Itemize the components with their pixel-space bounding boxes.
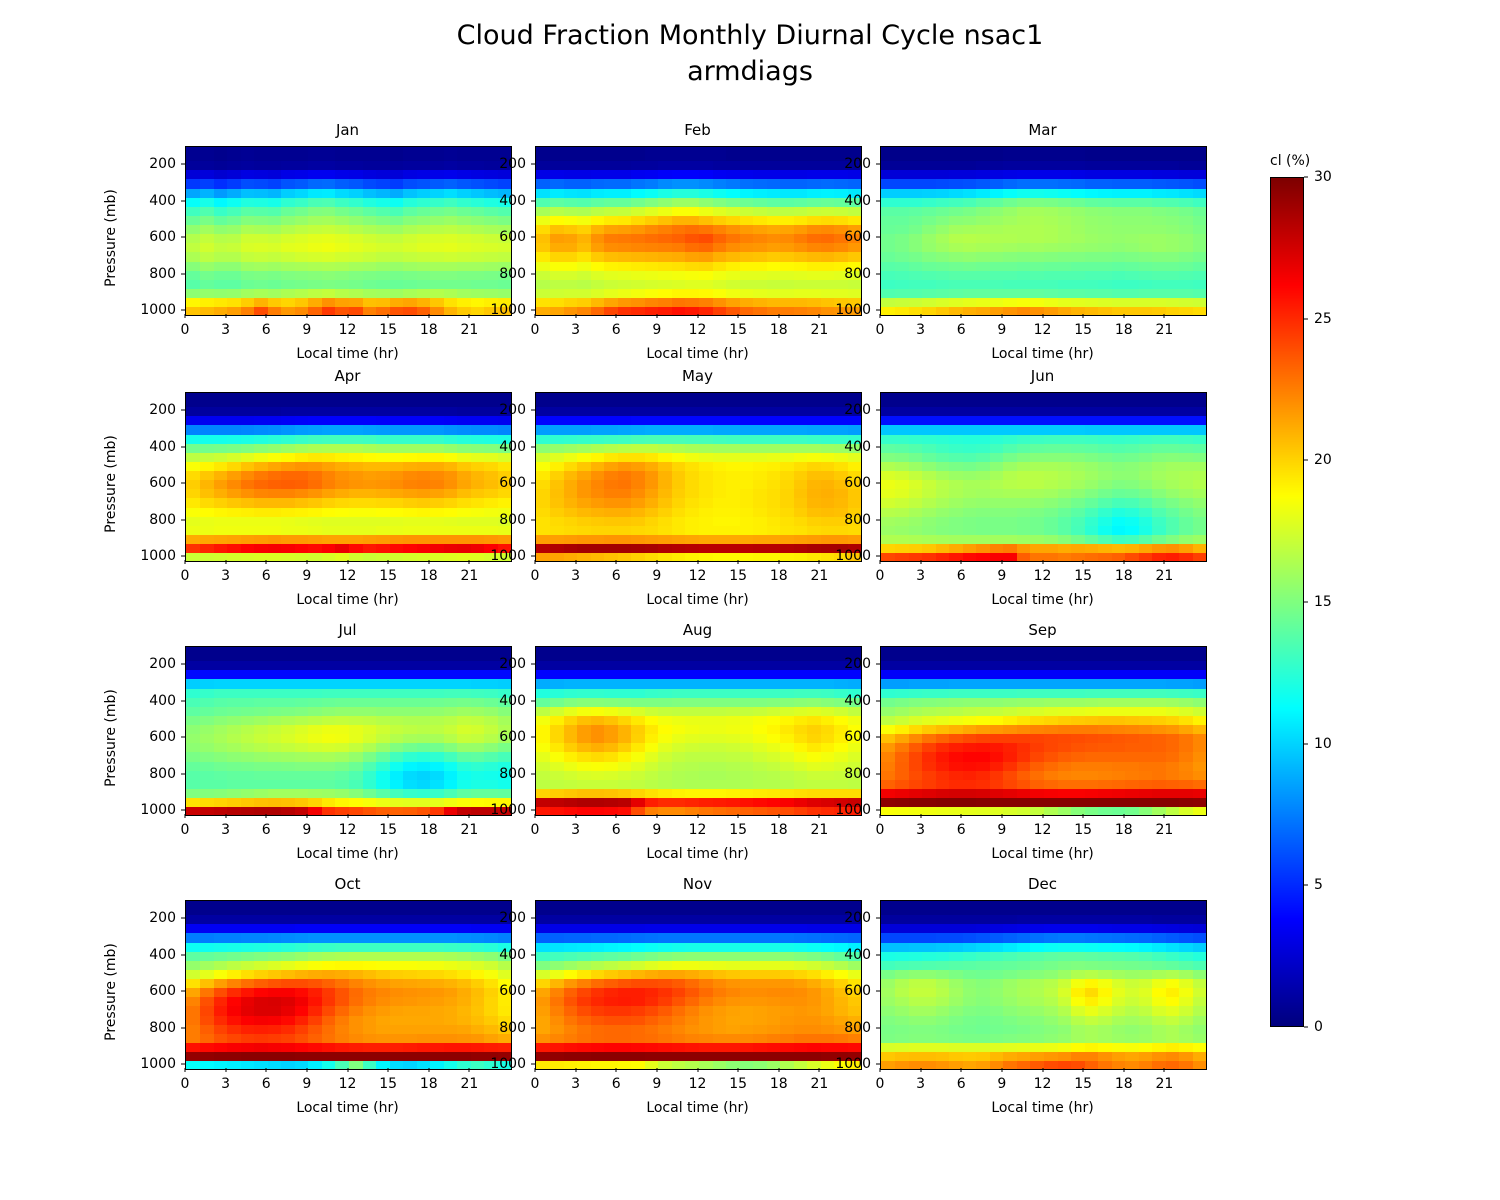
- y-tick-mark: [531, 410, 535, 411]
- heatmap-image: [186, 393, 511, 561]
- x-tick-mark: [1123, 1068, 1124, 1072]
- x-tick-mark: [306, 814, 307, 818]
- x-tick-label: 6: [612, 822, 621, 838]
- colorbar-tick-mark: [1304, 885, 1308, 886]
- heatmap-plot-area[interactable]: [535, 392, 862, 562]
- colorbar-tick-mark: [1304, 743, 1308, 744]
- subplot-title: Jul: [185, 621, 510, 639]
- x-tick-label: 12: [689, 568, 707, 584]
- y-tick-label: 200: [499, 402, 526, 418]
- y-tick-label: 400: [844, 947, 871, 963]
- x-tick-label: 15: [379, 322, 397, 338]
- x-tick-label: 6: [612, 1076, 621, 1092]
- x-tick-label: 9: [997, 322, 1006, 338]
- subplot-mar: Mar2004006008001000036912151821Local tim…: [880, 146, 1205, 314]
- x-tick-label: 21: [810, 568, 828, 584]
- x-tick-mark: [1164, 1068, 1165, 1072]
- x-tick-label: 12: [689, 822, 707, 838]
- y-tick-label: 600: [149, 229, 176, 245]
- x-tick-label: 15: [379, 1076, 397, 1092]
- subplot-may: May2004006008001000036912151821Local tim…: [535, 392, 860, 560]
- x-tick-label: 15: [729, 568, 747, 584]
- x-tick-mark: [306, 560, 307, 564]
- y-tick-mark: [181, 773, 185, 774]
- x-tick-mark: [388, 814, 389, 818]
- y-tick-mark: [876, 310, 880, 311]
- x-tick-mark: [1001, 814, 1002, 818]
- x-tick-mark: [388, 1068, 389, 1072]
- heatmap-plot-area[interactable]: [880, 900, 1207, 1070]
- heatmap-image: [881, 647, 1206, 815]
- x-tick-mark: [428, 314, 429, 318]
- y-tick-mark: [876, 556, 880, 557]
- x-tick-mark: [388, 560, 389, 564]
- x-tick-label: 15: [1074, 1076, 1092, 1092]
- y-tick-mark: [531, 810, 535, 811]
- x-tick-mark: [738, 814, 739, 818]
- x-tick-label: 21: [810, 322, 828, 338]
- subplot-title: Feb: [535, 121, 860, 139]
- x-tick-mark: [656, 1068, 657, 1072]
- x-tick-label: 18: [770, 568, 788, 584]
- y-tick-label: 600: [149, 475, 176, 491]
- x-tick-mark: [1042, 1068, 1043, 1072]
- x-axis-label: Local time (hr): [535, 1100, 860, 1116]
- y-tick-mark: [531, 200, 535, 201]
- y-tick-mark: [531, 991, 535, 992]
- y-tick-mark: [181, 1064, 185, 1065]
- x-tick-label: 12: [1034, 822, 1052, 838]
- heatmap-plot-area[interactable]: [185, 392, 512, 562]
- x-tick-label: 0: [181, 822, 190, 838]
- colorbar-tick-label: 25: [1314, 311, 1332, 327]
- heatmap-image: [881, 901, 1206, 1069]
- y-tick-label: 200: [844, 156, 871, 172]
- x-tick-label: 0: [531, 568, 540, 584]
- x-tick-label: 21: [1155, 568, 1173, 584]
- y-tick-label: 200: [499, 656, 526, 672]
- y-tick-mark: [876, 1027, 880, 1028]
- heatmap-image: [536, 901, 861, 1069]
- y-tick-label: 800: [844, 266, 871, 282]
- x-tick-label: 18: [770, 1076, 788, 1092]
- heatmap-plot-area[interactable]: [880, 392, 1207, 562]
- x-tick-mark: [1123, 314, 1124, 318]
- x-tick-mark: [738, 560, 739, 564]
- y-tick-label: 200: [149, 910, 176, 926]
- x-tick-label: 12: [339, 1076, 357, 1092]
- heatmap-plot-area[interactable]: [535, 900, 862, 1070]
- subplot-sep: Sep2004006008001000036912151821Local tim…: [880, 646, 1205, 814]
- x-tick-mark: [575, 314, 576, 318]
- x-tick-label: 3: [571, 568, 580, 584]
- heatmap-plot-area[interactable]: [185, 146, 512, 316]
- x-tick-label: 18: [420, 822, 438, 838]
- y-tick-label: 400: [844, 693, 871, 709]
- y-tick-label: 1000: [490, 548, 526, 564]
- y-tick-mark: [181, 446, 185, 447]
- y-axis-label: Pressure (mb): [103, 158, 119, 318]
- x-tick-mark: [656, 314, 657, 318]
- x-tick-label: 18: [770, 822, 788, 838]
- x-tick-label: 0: [181, 322, 190, 338]
- x-tick-mark: [225, 314, 226, 318]
- heatmap-image: [186, 147, 511, 315]
- x-tick-label: 0: [876, 822, 885, 838]
- x-tick-mark: [428, 814, 429, 818]
- colorbar-tick-mark: [1304, 177, 1308, 178]
- subplot-feb: Feb2004006008001000036912151821Local tim…: [535, 146, 860, 314]
- x-tick-label: 9: [652, 822, 661, 838]
- x-tick-mark: [185, 814, 186, 818]
- subplot-title: Sep: [880, 621, 1205, 639]
- x-tick-mark: [347, 814, 348, 818]
- colorbar-tick-label: 20: [1314, 452, 1332, 468]
- colorbar-tick-label: 10: [1314, 736, 1332, 752]
- x-tick-mark: [819, 560, 820, 564]
- x-tick-label: 0: [531, 822, 540, 838]
- x-tick-label: 6: [957, 322, 966, 338]
- x-tick-label: 6: [957, 822, 966, 838]
- y-tick-mark: [181, 273, 185, 274]
- x-tick-label: 9: [652, 568, 661, 584]
- y-tick-mark: [876, 664, 880, 665]
- heatmap-plot-area[interactable]: [880, 146, 1207, 316]
- x-tick-mark: [1042, 314, 1043, 318]
- x-tick-mark: [469, 814, 470, 818]
- x-tick-label: 9: [302, 568, 311, 584]
- x-tick-label: 9: [302, 322, 311, 338]
- x-tick-label: 12: [339, 322, 357, 338]
- subplot-title: Mar: [880, 121, 1205, 139]
- subplot-aug: Aug2004006008001000036912151821Local tim…: [535, 646, 860, 814]
- y-tick-label: 200: [844, 402, 871, 418]
- x-tick-mark: [575, 560, 576, 564]
- x-tick-mark: [306, 314, 307, 318]
- x-tick-label: 18: [1115, 568, 1133, 584]
- x-tick-mark: [1001, 560, 1002, 564]
- x-tick-label: 9: [652, 1076, 661, 1092]
- y-tick-label: 200: [499, 156, 526, 172]
- colorbar-tick-mark: [1304, 460, 1308, 461]
- heatmap-plot-area[interactable]: [880, 646, 1207, 816]
- y-tick-mark: [876, 200, 880, 201]
- y-tick-label: 1000: [490, 1056, 526, 1072]
- x-tick-mark: [656, 814, 657, 818]
- y-tick-label: 800: [149, 766, 176, 782]
- x-axis-label: Local time (hr): [185, 592, 510, 608]
- x-tick-mark: [697, 814, 698, 818]
- heatmap-plot-area[interactable]: [185, 646, 512, 816]
- y-tick-label: 200: [844, 910, 871, 926]
- y-tick-mark: [531, 700, 535, 701]
- x-axis-label: Local time (hr): [535, 592, 860, 608]
- x-tick-mark: [1001, 1068, 1002, 1072]
- y-tick-label: 1000: [490, 802, 526, 818]
- x-tick-label: 9: [302, 1076, 311, 1092]
- y-tick-label: 600: [844, 475, 871, 491]
- y-tick-label: 400: [499, 693, 526, 709]
- figure-canvas: Cloud Fraction Monthly Diurnal Cycle nsa…: [0, 0, 1500, 1200]
- x-axis-label: Local time (hr): [880, 346, 1205, 362]
- x-tick-label: 6: [262, 822, 271, 838]
- y-tick-label: 1000: [490, 302, 526, 318]
- y-axis-label: Pressure (mb): [103, 658, 119, 818]
- x-tick-mark: [388, 314, 389, 318]
- y-tick-label: 600: [499, 229, 526, 245]
- y-tick-mark: [876, 483, 880, 484]
- x-tick-label: 21: [460, 568, 478, 584]
- y-tick-mark: [876, 773, 880, 774]
- y-tick-mark: [181, 200, 185, 201]
- x-axis-label: Local time (hr): [535, 346, 860, 362]
- x-tick-mark: [778, 814, 779, 818]
- x-tick-label: 15: [1074, 822, 1092, 838]
- x-tick-mark: [535, 814, 536, 818]
- x-tick-label: 15: [729, 822, 747, 838]
- x-tick-mark: [880, 1068, 881, 1072]
- colorbar-tick-label: 0: [1314, 1019, 1323, 1035]
- x-tick-label: 0: [181, 1076, 190, 1092]
- x-tick-mark: [961, 560, 962, 564]
- y-tick-label: 800: [499, 266, 526, 282]
- x-tick-mark: [656, 560, 657, 564]
- y-tick-label: 600: [499, 475, 526, 491]
- y-tick-label: 1000: [835, 302, 871, 318]
- x-tick-mark: [428, 1068, 429, 1072]
- y-tick-mark: [181, 991, 185, 992]
- x-tick-mark: [1042, 560, 1043, 564]
- y-tick-label: 600: [844, 229, 871, 245]
- x-tick-mark: [575, 1068, 576, 1072]
- x-tick-mark: [697, 560, 698, 564]
- x-tick-label: 6: [262, 322, 271, 338]
- x-tick-label: 6: [612, 568, 621, 584]
- x-axis-label: Local time (hr): [535, 846, 860, 862]
- y-tick-label: 200: [149, 156, 176, 172]
- y-tick-mark: [876, 954, 880, 955]
- x-tick-label: 0: [876, 1076, 885, 1092]
- y-tick-mark: [181, 519, 185, 520]
- x-tick-mark: [778, 314, 779, 318]
- y-tick-mark: [531, 1064, 535, 1065]
- x-tick-mark: [266, 1068, 267, 1072]
- x-tick-label: 6: [612, 322, 621, 338]
- x-tick-label: 3: [571, 1076, 580, 1092]
- heatmap-plot-area[interactable]: [535, 146, 862, 316]
- x-tick-label: 21: [1155, 322, 1173, 338]
- x-tick-mark: [961, 814, 962, 818]
- x-tick-mark: [880, 314, 881, 318]
- x-tick-mark: [535, 1068, 536, 1072]
- x-tick-label: 3: [221, 822, 230, 838]
- subplot-title: Dec: [880, 875, 1205, 893]
- x-tick-label: 18: [1115, 1076, 1133, 1092]
- x-tick-mark: [616, 314, 617, 318]
- y-tick-mark: [181, 810, 185, 811]
- x-tick-label: 3: [221, 1076, 230, 1092]
- x-tick-label: 18: [420, 1076, 438, 1092]
- y-tick-label: 400: [844, 439, 871, 455]
- subplot-jan: Jan2004006008001000036912151821Local tim…: [185, 146, 510, 314]
- y-tick-mark: [876, 700, 880, 701]
- x-tick-mark: [616, 1068, 617, 1072]
- colorbar-tick-label: 30: [1314, 169, 1332, 185]
- x-tick-mark: [575, 814, 576, 818]
- x-tick-label: 0: [531, 322, 540, 338]
- x-tick-label: 18: [770, 322, 788, 338]
- y-tick-mark: [531, 310, 535, 311]
- y-tick-mark: [181, 737, 185, 738]
- x-tick-mark: [738, 314, 739, 318]
- y-tick-label: 200: [149, 656, 176, 672]
- y-tick-mark: [876, 519, 880, 520]
- x-tick-mark: [778, 1068, 779, 1072]
- x-tick-label: 21: [460, 1076, 478, 1092]
- x-tick-mark: [616, 814, 617, 818]
- x-tick-label: 12: [1034, 568, 1052, 584]
- y-tick-mark: [181, 237, 185, 238]
- figure-suptitle: Cloud Fraction Monthly Diurnal Cycle nsa…: [0, 18, 1500, 90]
- y-tick-mark: [876, 1064, 880, 1065]
- y-tick-mark: [181, 310, 185, 311]
- y-tick-label: 600: [499, 983, 526, 999]
- x-tick-mark: [1083, 314, 1084, 318]
- subplot-title: Aug: [535, 621, 860, 639]
- y-tick-mark: [876, 164, 880, 165]
- y-tick-label: 1000: [835, 802, 871, 818]
- y-tick-label: 800: [844, 512, 871, 528]
- heatmap-image: [881, 147, 1206, 315]
- x-tick-label: 21: [810, 1076, 828, 1092]
- x-tick-label: 6: [262, 1076, 271, 1092]
- y-tick-mark: [531, 556, 535, 557]
- x-tick-mark: [266, 814, 267, 818]
- y-tick-mark: [181, 664, 185, 665]
- subplot-jul: Jul2004006008001000036912151821Local tim…: [185, 646, 510, 814]
- y-tick-label: 400: [149, 947, 176, 963]
- y-tick-mark: [181, 483, 185, 484]
- x-tick-label: 15: [379, 568, 397, 584]
- x-tick-mark: [347, 1068, 348, 1072]
- y-tick-label: 600: [844, 983, 871, 999]
- colorbar[interactable]: 051015202530: [1270, 177, 1304, 1027]
- y-tick-mark: [181, 700, 185, 701]
- heatmap-image: [536, 147, 861, 315]
- x-tick-mark: [616, 560, 617, 564]
- x-tick-mark: [819, 1068, 820, 1072]
- x-tick-label: 12: [1034, 322, 1052, 338]
- x-axis-label: Local time (hr): [185, 846, 510, 862]
- y-tick-label: 800: [844, 1020, 871, 1036]
- x-axis-label: Local time (hr): [880, 1100, 1205, 1116]
- y-tick-mark: [531, 1027, 535, 1028]
- x-axis-label: Local time (hr): [185, 346, 510, 362]
- subplot-nov: Nov2004006008001000036912151821Local tim…: [535, 900, 860, 1068]
- x-tick-mark: [1123, 560, 1124, 564]
- y-tick-mark: [181, 410, 185, 411]
- x-tick-mark: [1123, 814, 1124, 818]
- colorbar-tick-mark: [1304, 318, 1308, 319]
- y-tick-mark: [876, 273, 880, 274]
- y-tick-mark: [531, 483, 535, 484]
- y-tick-label: 600: [149, 729, 176, 745]
- y-tick-label: 800: [149, 512, 176, 528]
- x-tick-mark: [819, 314, 820, 318]
- x-tick-label: 15: [1074, 568, 1092, 584]
- x-tick-label: 9: [997, 568, 1006, 584]
- x-tick-mark: [1083, 1068, 1084, 1072]
- x-tick-mark: [1083, 814, 1084, 818]
- y-axis-label: Pressure (mb): [103, 912, 119, 1072]
- x-tick-mark: [185, 560, 186, 564]
- heatmap-image: [186, 901, 511, 1069]
- x-tick-mark: [920, 814, 921, 818]
- y-tick-label: 400: [149, 693, 176, 709]
- x-tick-label: 9: [302, 822, 311, 838]
- x-tick-mark: [428, 560, 429, 564]
- subplot-oct: Oct2004006008001000036912151821Local tim…: [185, 900, 510, 1068]
- subplot-title: Oct: [185, 875, 510, 893]
- y-tick-label: 400: [499, 193, 526, 209]
- x-tick-mark: [225, 814, 226, 818]
- y-tick-label: 400: [149, 439, 176, 455]
- x-tick-label: 21: [460, 322, 478, 338]
- x-tick-mark: [469, 560, 470, 564]
- y-tick-label: 400: [499, 439, 526, 455]
- y-tick-mark: [876, 737, 880, 738]
- y-tick-label: 800: [499, 1020, 526, 1036]
- x-tick-label: 15: [729, 1076, 747, 1092]
- colorbar-tick-mark: [1304, 602, 1308, 603]
- y-tick-label: 1000: [835, 1056, 871, 1072]
- x-tick-label: 18: [420, 322, 438, 338]
- y-tick-label: 800: [844, 766, 871, 782]
- x-axis-label: Local time (hr): [880, 592, 1205, 608]
- x-tick-label: 18: [420, 568, 438, 584]
- subplot-apr: Apr2004006008001000036912151821Local tim…: [185, 392, 510, 560]
- x-tick-mark: [1164, 560, 1165, 564]
- x-tick-mark: [961, 1068, 962, 1072]
- x-tick-label: 3: [221, 322, 230, 338]
- x-tick-label: 21: [460, 822, 478, 838]
- x-tick-mark: [347, 560, 348, 564]
- x-tick-mark: [185, 1068, 186, 1072]
- x-tick-label: 3: [916, 322, 925, 338]
- x-tick-label: 15: [1074, 322, 1092, 338]
- x-tick-label: 9: [997, 822, 1006, 838]
- y-tick-label: 400: [149, 193, 176, 209]
- x-tick-label: 0: [876, 568, 885, 584]
- colorbar-tick-label: 15: [1314, 594, 1332, 610]
- x-tick-label: 12: [1034, 1076, 1052, 1092]
- y-tick-label: 200: [499, 910, 526, 926]
- y-tick-mark: [181, 954, 185, 955]
- y-tick-label: 200: [149, 402, 176, 418]
- heatmap-plot-area[interactable]: [535, 646, 862, 816]
- x-tick-label: 21: [1155, 1076, 1173, 1092]
- y-tick-mark: [876, 918, 880, 919]
- x-tick-label: 12: [339, 568, 357, 584]
- x-axis-label: Local time (hr): [880, 846, 1205, 862]
- x-tick-mark: [880, 560, 881, 564]
- x-tick-label: 3: [571, 322, 580, 338]
- x-tick-label: 3: [221, 568, 230, 584]
- x-tick-mark: [347, 314, 348, 318]
- x-tick-label: 12: [339, 822, 357, 838]
- heatmap-plot-area[interactable]: [185, 900, 512, 1070]
- x-tick-mark: [1083, 560, 1084, 564]
